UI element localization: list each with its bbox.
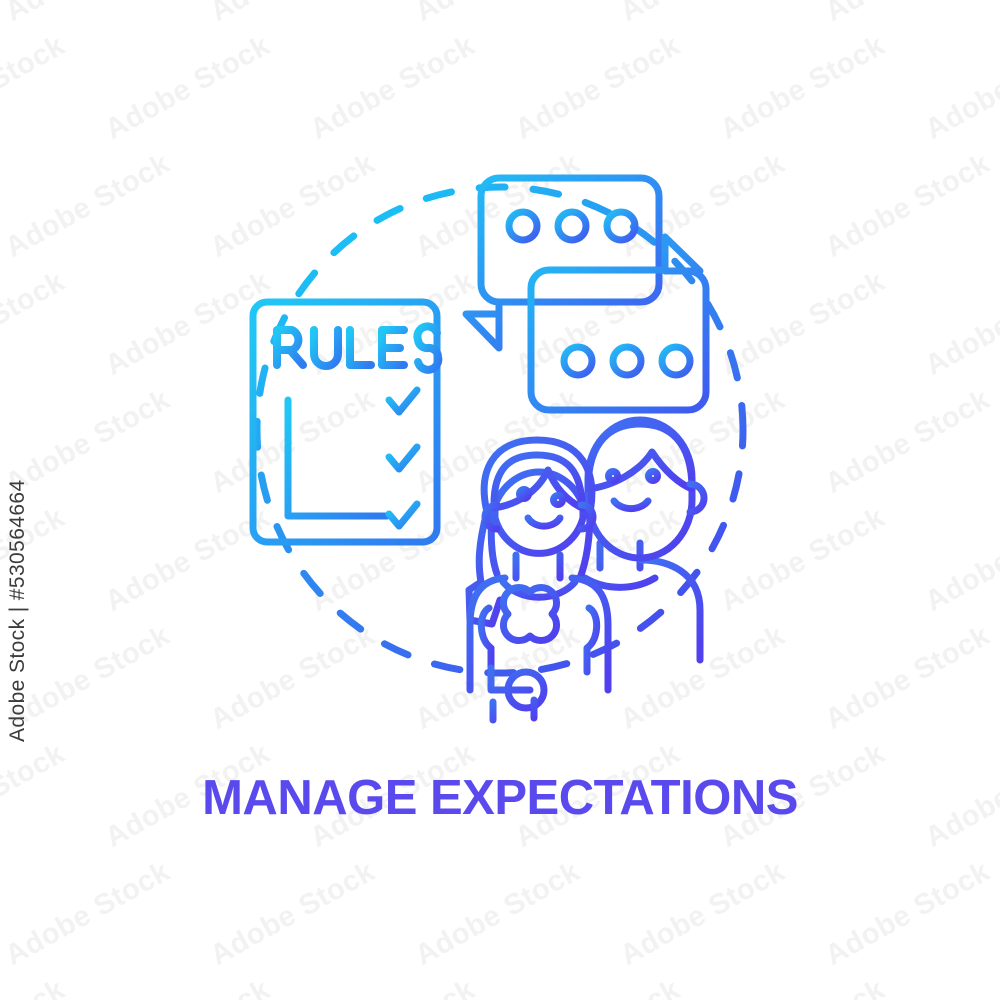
- bubble-front-dot-3: [662, 347, 690, 375]
- bubble-back-dot-2: [558, 212, 586, 240]
- woman-neck: [516, 555, 560, 578]
- man-eye-right: [649, 472, 658, 481]
- bubble-back-dot-1: [509, 212, 537, 240]
- speech-bubbles: [466, 178, 706, 410]
- man-torso: [585, 543, 655, 587]
- concept-illustration: [0, 0, 1000, 1000]
- page-title: MANAGE EXPECTATIONS: [0, 770, 1000, 826]
- check-1: [389, 390, 417, 412]
- rules-label: [277, 326, 438, 369]
- man-hair: [588, 424, 692, 489]
- man-smile: [614, 501, 648, 509]
- check-2: [389, 447, 417, 469]
- bubble-front-dot-2: [613, 347, 641, 375]
- stock-watermark-id: Adobe Stock | #530564664: [6, 479, 30, 742]
- illustration-canvas: Adobe StockAdobe StockAdobe StockAdobe S…: [0, 0, 1000, 1000]
- woman-smile: [528, 518, 560, 526]
- check-3: [389, 504, 417, 526]
- woman-eye-right: [554, 496, 563, 505]
- bubble-front-dot-1: [564, 347, 592, 375]
- man-eye-left: [609, 472, 618, 481]
- speech-bubble-back: [466, 178, 659, 348]
